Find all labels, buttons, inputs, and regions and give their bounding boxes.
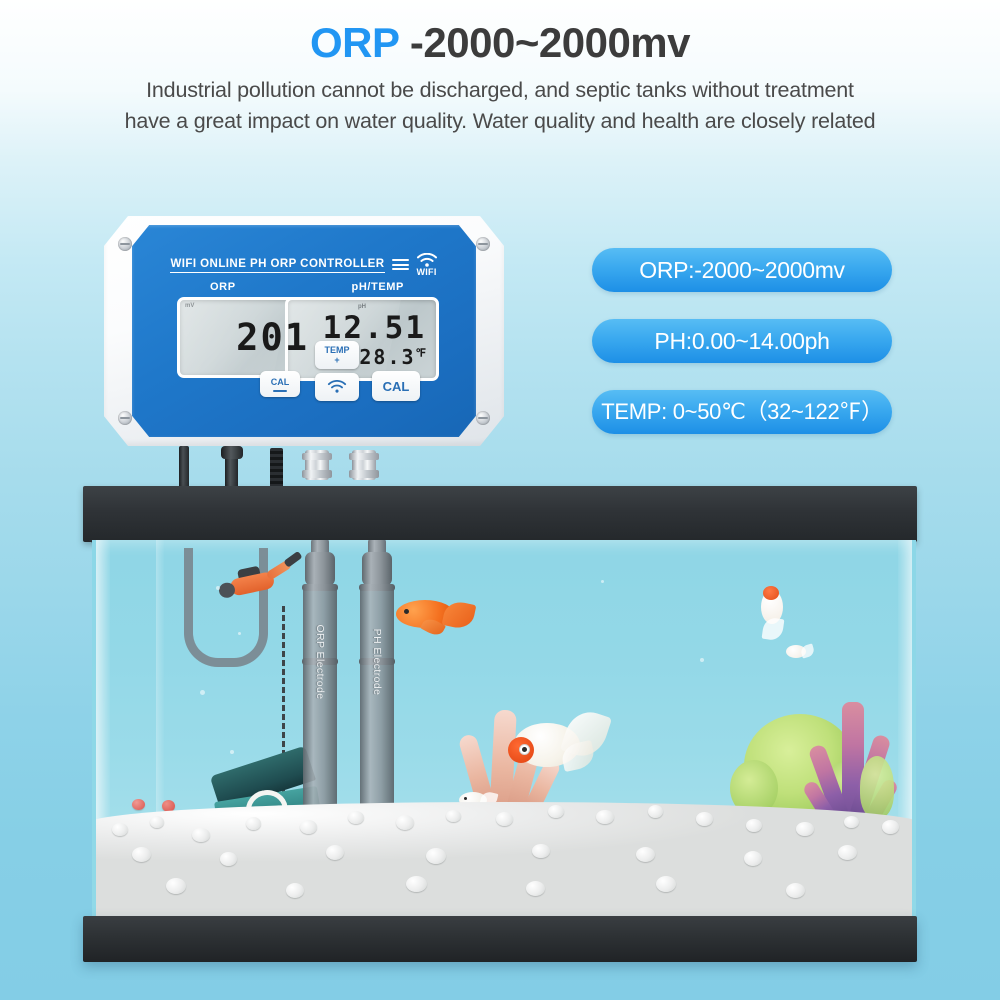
wifi-icon bbox=[327, 380, 347, 394]
cable-icon bbox=[270, 448, 283, 488]
temperature-reading: 28.3℉ bbox=[288, 344, 436, 367]
wifi-button[interactable] bbox=[315, 373, 359, 401]
spec-badge-ph: PH:0.00~14.00ph bbox=[592, 319, 892, 363]
spec-badge-list: ORP:-2000~2000mv PH:0.00~14.00ph TEMP: 0… bbox=[592, 248, 892, 461]
cable-gland-icon bbox=[305, 450, 329, 480]
subtitle-line-1: Industrial pollution cannot be discharge… bbox=[0, 76, 1000, 105]
wifi-label: WIFI bbox=[416, 267, 436, 277]
cable-icon bbox=[179, 446, 189, 488]
screw-icon bbox=[118, 237, 132, 251]
cable-grommet-icon bbox=[221, 446, 243, 459]
minus-icon bbox=[273, 390, 287, 392]
header: ORP -2000~2000mv Industrial pollution ca… bbox=[0, 0, 1000, 135]
screw-icon bbox=[118, 411, 132, 425]
title-rest: -2000~2000mv bbox=[399, 19, 690, 66]
tank-base bbox=[83, 916, 917, 962]
product-marketing-image: ORP -2000~2000mv Industrial pollution ca… bbox=[0, 0, 1000, 1000]
page-title: ORP -2000~2000mv bbox=[0, 0, 1000, 64]
orp-panel-label: ORP bbox=[210, 281, 236, 293]
spec-badge-orp: ORP:-2000~2000mv bbox=[592, 248, 892, 292]
device-brand-row: WIFI ONLINE PH ORP CONTROLLER WIFI bbox=[132, 253, 476, 278]
wifi-icon bbox=[416, 253, 438, 268]
ph-electrode-label: PH Electrode bbox=[371, 629, 383, 696]
device-faceplate: WIFI ONLINE PH ORP CONTROLLER WIFI ORP p… bbox=[132, 225, 476, 437]
aquarium-tank: ORP Electrode PH Electrode bbox=[83, 486, 917, 962]
spec-badge-temp: TEMP: 0~50℃（32~122℉） bbox=[592, 390, 892, 434]
tank-lid bbox=[83, 486, 917, 542]
gravel-substrate bbox=[96, 794, 912, 922]
signal-bars-icon bbox=[392, 259, 409, 270]
subtitle-line-2: have a great impact on water quality. Wa… bbox=[0, 107, 1000, 136]
wifi-controller-device: WIFI ONLINE PH ORP CONTROLLER WIFI ORP p… bbox=[104, 216, 504, 446]
cal-minus-label: CAL bbox=[271, 377, 290, 387]
ph-temp-panel-label: pH/TEMP bbox=[352, 281, 404, 293]
tank-glass-water: ORP Electrode PH Electrode bbox=[92, 540, 916, 922]
cal-button[interactable]: CAL bbox=[372, 371, 420, 401]
device-brand-text: WIFI ONLINE PH ORP CONTROLLER bbox=[170, 258, 384, 273]
ph-reading: 12.51 bbox=[288, 300, 436, 344]
title-accent: ORP bbox=[310, 19, 399, 66]
orp-electrode-label: ORP Electrode bbox=[314, 624, 326, 699]
cal-label: CAL bbox=[383, 379, 410, 394]
cable-gland-icon bbox=[352, 450, 376, 480]
screw-icon bbox=[476, 237, 490, 251]
wifi-logo: WIFI bbox=[416, 253, 438, 277]
screw-icon bbox=[476, 411, 490, 425]
